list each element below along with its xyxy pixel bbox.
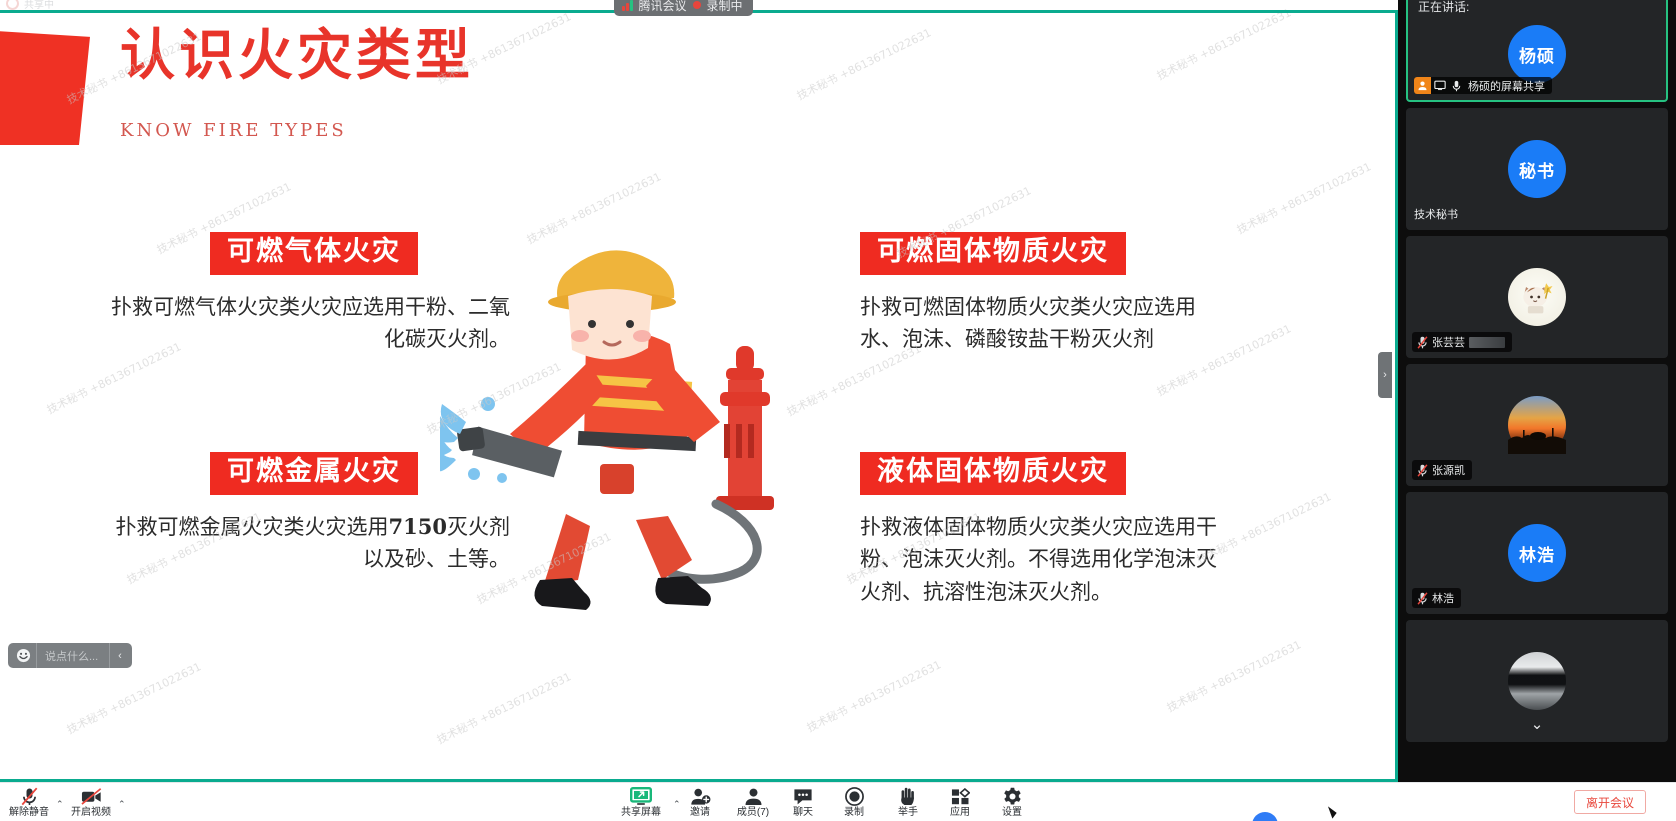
stop-share-icon (6, 0, 19, 10)
participant-tile[interactable]: 秘书 技术秘书 (1406, 108, 1668, 230)
panel-badge: 可燃金属火灾 (210, 452, 418, 495)
mute-button[interactable]: 解除静音 (6, 783, 52, 821)
participants-button[interactable]: 成员(7) (722, 783, 784, 821)
participant-tile[interactable]: 林浩 林浩 (1406, 492, 1668, 614)
share-status-badge: 杨硕的屏幕共享 (1414, 77, 1552, 94)
participant-name: 技术秘书 (1414, 206, 1458, 222)
decorative-red-shape (0, 30, 90, 145)
fire-type-panel-liquid: 液体固体物质火灾 扑救液体固体物质火灾类火灾应选用干粉、泡沫灭火剂。不得选用化学… (860, 452, 1260, 609)
panel-badge: 液体固体物质火灾 (860, 452, 1126, 495)
panel-body: 扑救液体固体物质火灾类火灾应选用干粉、泡沫灭火剂。不得选用化学泡沫灭火剂、抗溶性… (860, 511, 1235, 609)
chat-button[interactable]: 聊天 (778, 783, 828, 821)
slide-subtitle: KNOW FIRE TYPES (120, 120, 347, 141)
invite-label: 邀请 (690, 807, 710, 818)
settings-button[interactable]: 设置 (986, 783, 1038, 821)
participant-name: 杨硕的屏幕共享 (1465, 78, 1552, 94)
participant-tile[interactable]: ⌄ (1406, 620, 1668, 742)
shared-screen-stage: 认识火灾类型 KNOW FIRE TYPES 可燃气体火灾 扑救可燃气体火灾类火… (0, 0, 1398, 782)
participant-tile[interactable]: 正在讲话: 杨硕 杨硕的屏幕共享 (1406, 0, 1668, 102)
avatar (1508, 268, 1566, 326)
panel-body: 扑救可燃固体物质火灾类火灾应选用水、泡沫、磷酸铵盐干粉灭火剂 (860, 291, 1235, 357)
apps-button[interactable]: 应用 (934, 783, 986, 821)
screen-share-icon (630, 787, 652, 806)
invite-person-icon (690, 787, 711, 806)
screen-share-icon (1431, 77, 1448, 94)
avatar (1508, 396, 1566, 454)
leave-meeting-button[interactable]: 离开会议 (1574, 790, 1646, 814)
participant-name: 林浩 (1432, 590, 1454, 606)
firefighter-illustration (440, 228, 860, 628)
mic-icon (1448, 77, 1465, 94)
raise-hand-icon (899, 787, 917, 806)
sidebar-collapse-handle[interactable]: › (1378, 352, 1392, 398)
panel-badge: 可燃固体物质火灾 (860, 232, 1126, 275)
avatar (1508, 652, 1566, 710)
mic-muted-icon (1417, 464, 1428, 477)
signal-bars-icon (622, 0, 633, 11)
apps-grid-icon (951, 787, 970, 806)
meeting-toolbar: 解除静音 ⌃ 开启视频 ⌃ (0, 782, 1676, 821)
participant-tile[interactable]: 张芸芸 (1406, 236, 1668, 358)
panel-body-agent: 7150 (389, 514, 447, 539)
comment-input[interactable]: 说点什么... (36, 643, 110, 668)
avatar: 杨硕 (1508, 25, 1566, 83)
record-dot-icon (693, 1, 701, 9)
meeting-window: 认识火灾类型 KNOW FIRE TYPES 可燃气体火灾 扑救可燃气体火灾类火… (0, 0, 1676, 821)
video-off-icon (81, 787, 102, 806)
record-label: 录制 (844, 807, 864, 818)
mute-button-label: 解除静音 (9, 807, 49, 818)
mic-muted-icon (1417, 336, 1428, 349)
chevron-left-icon[interactable]: ‹ (110, 643, 130, 668)
participants-label: 成员(7) (737, 807, 769, 818)
comment-placeholder: 说点什么... (45, 648, 98, 664)
chevron-down-icon[interactable]: ⌄ (1531, 717, 1544, 732)
share-screen-label: 共享屏幕 (621, 807, 661, 818)
app-name-label: 腾讯会议 (639, 0, 687, 14)
record-button[interactable]: 录制 (828, 783, 880, 821)
participant-name-label: 张源凯 (1412, 460, 1472, 480)
participant-tile[interactable]: 张源凯 (1406, 364, 1668, 486)
hydrant-icon (716, 346, 774, 510)
panel-badge: 可燃气体火灾 (210, 232, 418, 275)
avatar: 林浩 (1508, 524, 1566, 582)
audio-settings-caret[interactable]: ⌃ (56, 799, 64, 810)
apps-label: 应用 (950, 807, 970, 818)
start-video-button[interactable]: 开启视频 (68, 783, 114, 821)
redacted-name-block (1469, 337, 1505, 348)
participants-icon (744, 787, 763, 806)
participant-name: 张源凯 (1432, 462, 1465, 478)
raise-hand-button[interactable]: 举手 (882, 783, 934, 821)
recording-status-label: 录制中 (707, 0, 743, 14)
participant-name-label: 林浩 (1412, 588, 1461, 608)
mic-muted-icon (1417, 592, 1428, 605)
video-settings-caret[interactable]: ⌃ (118, 799, 126, 810)
avatar: 秘书 (1508, 140, 1566, 198)
share-screen-button[interactable]: 共享屏幕 (613, 783, 669, 821)
gear-icon (1003, 787, 1022, 806)
participant-name: 张芸芸 (1432, 334, 1465, 350)
presentation-slide: 认识火灾类型 KNOW FIRE TYPES 可燃气体火灾 扑救可燃气体火灾类火… (0, 0, 1398, 782)
start-video-label: 开启视频 (71, 807, 111, 818)
annotation-comment-bar[interactable]: 说点什么... ‹ (8, 643, 132, 668)
participant-name-label: 张芸芸 (1412, 332, 1512, 352)
invite-button[interactable]: 邀请 (672, 783, 728, 821)
smiley-icon[interactable] (10, 643, 36, 668)
panel-body-pre: 扑救可燃金属火灾类火灾选用 (116, 515, 389, 539)
speaking-label: 正在讲话: (1418, 0, 1469, 15)
slide-title: 认识火灾类型 (120, 24, 474, 87)
chat-label: 聊天 (793, 807, 813, 818)
sharing-status-badge: 共享中 (6, 0, 54, 11)
participant-name-label: 技术秘书 (1412, 204, 1465, 224)
raise-hand-label: 举手 (898, 807, 918, 818)
participant-sidebar[interactable]: 正在讲话: 杨硕 杨硕的屏幕共享 秘书 技术秘书 (1398, 0, 1676, 782)
fire-type-panel-solid: 可燃固体物质火灾 扑救可燃固体物质火灾类火灾应选用水、泡沫、磷酸铵盐干粉灭火剂 (860, 232, 1260, 356)
sharing-status-text: 共享中 (24, 0, 54, 11)
sunset-avatar-icon (1508, 396, 1566, 454)
mic-muted-icon (21, 787, 38, 806)
host-icon (1414, 77, 1431, 94)
record-circle-icon (845, 787, 864, 806)
chat-bubble-icon (793, 787, 813, 806)
settings-label: 设置 (1002, 807, 1022, 818)
cat-avatar-icon (1516, 276, 1558, 318)
recording-indicator[interactable]: 腾讯会议 录制中 (614, 0, 753, 16)
